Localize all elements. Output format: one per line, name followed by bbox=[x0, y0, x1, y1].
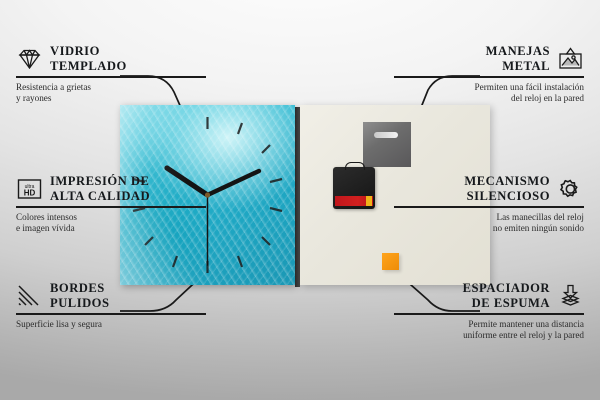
diamond-icon bbox=[16, 47, 43, 71]
feature-desc-line1: Las manecillas del reloj bbox=[496, 212, 584, 222]
feature-title-line1: VIDRIO bbox=[50, 44, 100, 58]
feature-desc-line2: del reloj en la pared bbox=[511, 93, 584, 103]
polished-edge-icon bbox=[16, 284, 43, 308]
feature-divider bbox=[16, 206, 206, 208]
feature-desc-line1: Permiten una fácil instalación bbox=[475, 82, 584, 92]
feature-title-line1: ESPACIADOR bbox=[463, 281, 550, 295]
mechanism-tag bbox=[366, 196, 372, 206]
feature-divider bbox=[394, 206, 584, 208]
feature-desc-line2: uniforme entre el reloj y la pared bbox=[463, 330, 584, 340]
picture-frame-icon bbox=[557, 47, 584, 71]
feature-divider bbox=[394, 76, 584, 78]
feature-title-line2: METAL bbox=[502, 59, 550, 73]
feature-title-line2: ALTA CALIDAD bbox=[50, 189, 150, 203]
feature-vidrio-templado: VIDRIO TEMPLADO Resistencia a grietas y … bbox=[16, 44, 206, 105]
feature-manejas-metal: MANEJAS METAL Permiten una fácil instala… bbox=[394, 44, 584, 105]
feature-desc-line1: Resistencia a grietas bbox=[16, 82, 91, 92]
feature-divider bbox=[16, 76, 206, 78]
ultra-hd-icon: ultra HD bbox=[16, 177, 43, 201]
feature-divider bbox=[16, 313, 206, 315]
feature-title-line2: DE ESPUMA bbox=[472, 296, 550, 310]
feature-mecanismo-silencioso: MECANISMO SILENCIOSO Las manecillas del … bbox=[394, 174, 584, 235]
feature-divider bbox=[394, 313, 584, 315]
feature-title-line2: PULIDOS bbox=[50, 296, 109, 310]
clock-mechanism bbox=[333, 167, 375, 209]
feature-title-line1: IMPRESIÓN DE bbox=[50, 174, 149, 188]
feature-title-line1: MANEJAS bbox=[486, 44, 550, 58]
feature-desc-line2: no emiten ningún sonido bbox=[493, 223, 584, 233]
metal-hanger bbox=[363, 122, 411, 167]
feature-title-line2: TEMPLADO bbox=[50, 59, 127, 73]
feature-desc-line1: Colores intensos bbox=[16, 212, 77, 222]
feature-espaciador-de-espuma: ESPACIADOR DE ESPUMA Permite mantener un… bbox=[394, 281, 584, 342]
svg-text:HD: HD bbox=[24, 188, 36, 197]
feature-desc-line1: Superficie lisa y segura bbox=[16, 319, 102, 329]
mechanism-handle bbox=[345, 162, 365, 170]
hanger-slot bbox=[374, 132, 398, 138]
feature-bordes-pulidos: BORDES PULIDOS Superficie lisa y segura bbox=[16, 281, 206, 330]
product-infographic: VIDRIO TEMPLADO Resistencia a grietas y … bbox=[0, 0, 600, 400]
feature-desc-line2: e imagen vívida bbox=[16, 223, 75, 233]
feature-desc-line1: Permite mantener una distancia bbox=[468, 319, 584, 329]
feature-title-line2: SILENCIOSO bbox=[467, 189, 550, 203]
feature-title-line1: BORDES bbox=[50, 281, 105, 295]
feature-title-line1: MECANISMO bbox=[464, 174, 550, 188]
down-arrow-layers-icon bbox=[557, 284, 584, 308]
feature-impresion-alta-calidad: ultra HD IMPRESIÓN DE ALTA CALIDAD Color… bbox=[16, 174, 206, 235]
gear-icon bbox=[557, 177, 584, 201]
foam-spacer bbox=[382, 253, 399, 270]
feature-desc-line2: y rayones bbox=[16, 93, 51, 103]
